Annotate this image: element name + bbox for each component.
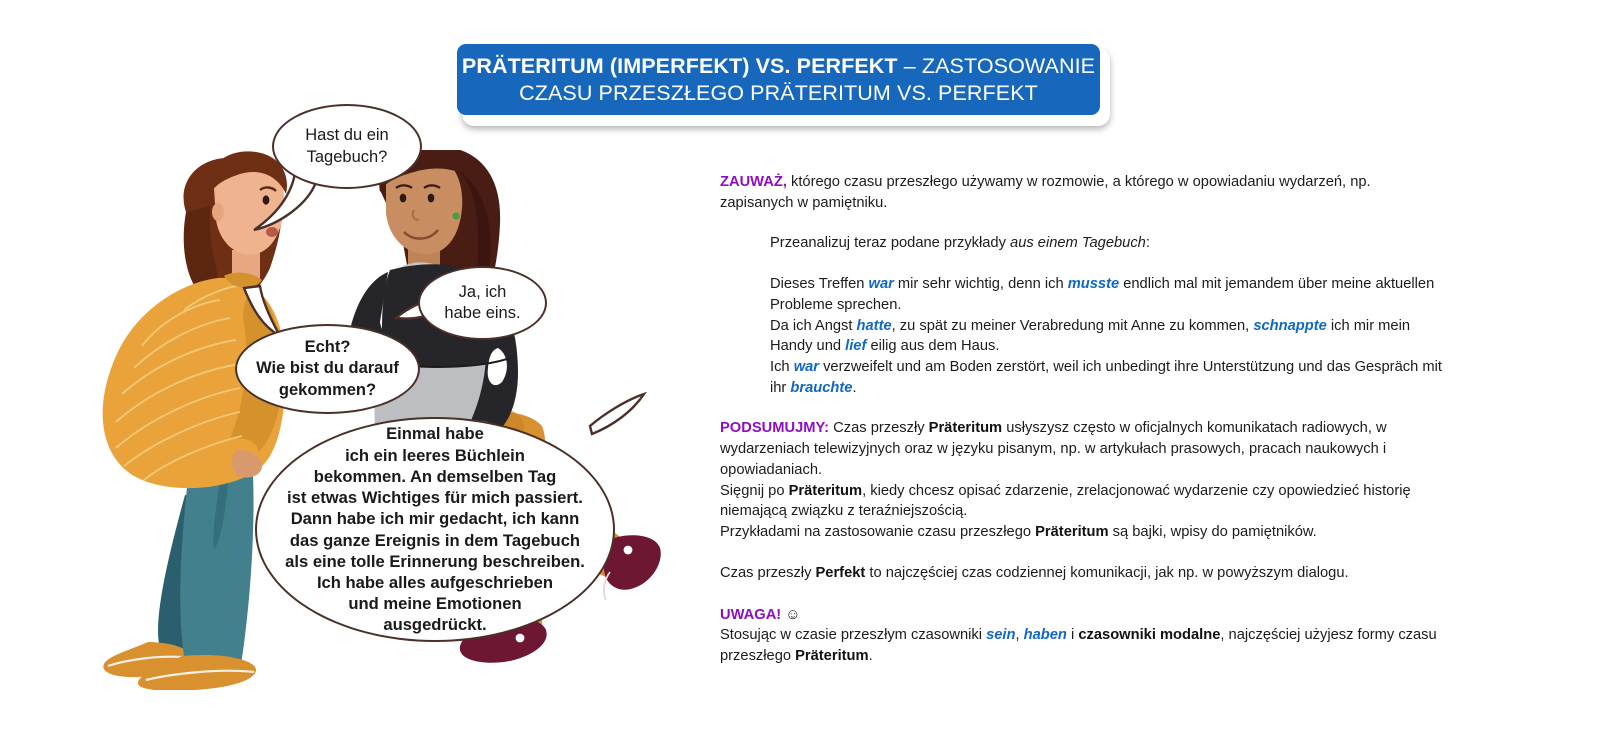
bubble-3-line-2: Wie bist du darauf — [256, 358, 399, 379]
bubble-4-line-6: das ganze Ereignis in dem Tagebuch — [285, 530, 585, 551]
bubble-3-text: Echt? Wie bist du darauf gekommen? — [256, 337, 399, 400]
uwaga-heading: UWAGA! ☺ — [720, 604, 1445, 626]
analyze-italic: aus einem Tagebuch — [1010, 235, 1146, 251]
analyze-suffix: : — [1146, 235, 1150, 251]
bubble-4-line-7: als eine tolle Erinnerung beschreiben. — [285, 551, 585, 572]
bubble-4-line-3: bekommen. An demselben Tag — [285, 466, 585, 487]
explanation-text-column: ZAUWAŻ, którego czasu przeszłego używamy… — [720, 172, 1445, 667]
zauwaz-label: ZAUWAŻ, — [720, 174, 787, 190]
bubble-1-line-2: Tagebuch? — [305, 147, 388, 168]
example-sentence: Dieses Treffen war mir sehr wichtig, den… — [770, 274, 1445, 315]
title-regular-part: – ZASTOSOWANIE — [898, 54, 1095, 78]
analyze-prefix: Przeanalizuj teraz podane przykłady — [770, 235, 1010, 251]
bubble-4-line-8: Ich habe alles aufgeschrieben — [285, 572, 585, 593]
bubble-4-tail — [586, 386, 656, 446]
speech-bubble-question: Hast du ein Tagebuch? — [272, 104, 422, 189]
title-line-2: CZASU PRZESZŁEGO PRÄTERITUM VS. PERFEKT — [519, 80, 1038, 106]
title-banner: PRÄTERITUM (IMPERFEKT) VS. PERFEKT – ZAS… — [457, 44, 1100, 115]
bubble-3-line-3: gekommen? — [256, 380, 399, 401]
bubble-4-line-9: und meine Emotionen — [285, 593, 585, 614]
title-bold-part: PRÄTERITUM (IMPERFEKT) VS. PERFEKT — [462, 54, 898, 78]
speech-bubble-answer: Ja, ich habe eins. — [418, 266, 547, 340]
example-sentence: Ich war verzweifelt und am Boden zerstör… — [770, 357, 1445, 398]
uwaga-note: Stosując w czasie przeszłym czasowniki s… — [720, 625, 1445, 666]
speech-bubble-story: Einmal habe ich ein leeres Büchlein beko… — [255, 417, 615, 642]
right-figure-eye-right — [428, 194, 435, 203]
uwaga-label: UWAGA! — [720, 607, 781, 623]
bubble-2-line-1: Ja, ich — [444, 282, 520, 303]
bubble-2-text: Ja, ich habe eins. — [444, 282, 520, 324]
bubble-4-line-1: Einmal habe — [285, 423, 585, 444]
summary-sentence: Przykładami na zastosowanie czasu przesz… — [720, 522, 1445, 543]
example-sentence: Da ich Angst hatte, zu spät zu meiner Ve… — [770, 316, 1445, 357]
podsumujmy-label: PODSUMUJMY: — [720, 420, 829, 436]
zauwaz-paragraph: ZAUWAŻ, którego czasu przeszłego używamy… — [720, 172, 1445, 213]
bubble-3-line-1: Echt? — [256, 337, 399, 358]
title-line-1: PRÄTERITUM (IMPERFEKT) VS. PERFEKT – ZAS… — [462, 53, 1095, 79]
bubble-4-line-4: ist etwas Wichtiges für mich passiert. — [285, 487, 585, 508]
speech-bubble-followup: Echt? Wie bist du darauf gekommen? — [235, 324, 420, 414]
perfekt-note: Czas przeszły Perfekt to najczęściej cza… — [720, 563, 1445, 584]
bubble-1-line-1: Hast du ein — [305, 125, 388, 146]
bubble-4-line-5: Dann habe ich mir gedacht, ich kann — [285, 508, 585, 529]
right-figure-eye-left — [400, 194, 407, 203]
summary-sentence: Sięgnij po Präteritum, kiedy chcesz opis… — [720, 481, 1445, 522]
podsumujmy-paragraph: PODSUMUJMY: Czas przeszły Präteritum usł… — [720, 418, 1445, 480]
analyze-instruction: Przeanalizuj teraz podane przykłady aus … — [720, 233, 1445, 254]
bubble-1-text: Hast du ein Tagebuch? — [305, 125, 388, 167]
examples-block: Dieses Treffen war mir sehr wichtig, den… — [720, 274, 1445, 398]
bubble-4-text: Einmal habe ich ein leeres Büchlein beko… — [285, 423, 585, 635]
infographic-page: PRÄTERITUM (IMPERFEKT) VS. PERFEKT – ZAS… — [0, 0, 1600, 750]
bubble-4-line-2: ich ein leeres Büchlein — [285, 445, 585, 466]
left-figure-front-leg — [180, 455, 253, 683]
right-figure-earring — [452, 212, 459, 219]
smiley-icon: ☺ — [785, 606, 800, 623]
bubble-2-line-2: habe eins. — [444, 303, 520, 324]
zauwaz-body: którego czasu przeszłego używamy w rozmo… — [720, 174, 1371, 211]
bubble-4-line-10: ausgedrückt. — [285, 614, 585, 635]
